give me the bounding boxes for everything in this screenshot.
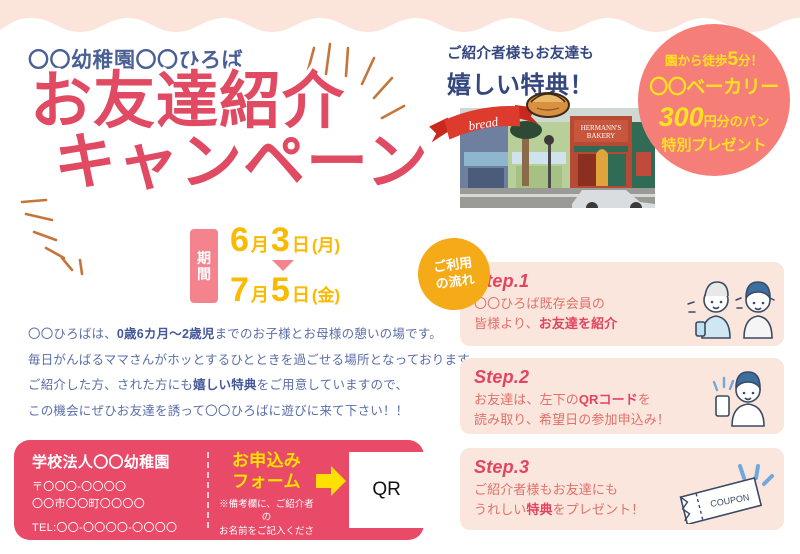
end-month: 7 <box>230 272 249 309</box>
organization-address: 〒〇〇〇-〇〇〇〇 〇〇市〇〇町〇〇〇〇 <box>32 479 207 512</box>
campaign-title: お友達紹介 キャンペーン <box>14 70 429 194</box>
application-form-label: お申込み フォーム <box>217 450 315 493</box>
bakery-offer-badge: 園から徒歩5分！ 〇〇ベーカリー 300円分のパン 特別プレゼント <box>638 24 790 176</box>
end-month-unit: 月 <box>251 281 269 307</box>
arrow-right-icon <box>316 422 348 540</box>
bakery-walk-distance: 園から徒歩5分！ <box>665 49 763 71</box>
period-label-char2: 間 <box>197 266 211 282</box>
start-month: 6 <box>230 222 249 259</box>
period-arrow-icon <box>272 260 294 271</box>
body-copy: 〇〇ひろばは、0歳6カ月〜2歳児までのお子様とお母様の憩いの場です。 毎日がんば… <box>28 322 481 425</box>
telephone: TEL:〇〇-〇〇〇〇-〇〇〇〇 <box>32 519 207 535</box>
campaign-title-line2: キャンペーン <box>54 131 429 194</box>
period-end-date: 7 月 5 日 (金) <box>230 272 340 309</box>
bread-ribbon-icon: bread <box>428 104 540 152</box>
street-address: 〇〇市〇〇町〇〇〇〇 <box>32 496 207 513</box>
start-day-unit: 日 <box>292 231 310 257</box>
start-dow: (月) <box>312 231 340 256</box>
bakery-name: 〇〇ベーカリー <box>649 72 779 99</box>
postal-code: 〒〇〇〇-〇〇〇〇 <box>32 479 207 496</box>
two-women-icon <box>684 278 776 340</box>
contact-application-card: 学校法人〇〇幼稚園 〒〇〇〇-〇〇〇〇 〇〇市〇〇町〇〇〇〇 TEL:〇〇-〇〇… <box>14 440 424 540</box>
bakery-offer-amount: 300円分のパン <box>659 102 770 133</box>
step-card-2: Step.2 お友達は、左下のQRコードを 読み取り、希望日の参加申込み！ <box>460 358 784 434</box>
end-day: 5 <box>271 272 290 309</box>
promo-headline-line1: ご紹介者様もお友達も <box>447 42 594 63</box>
end-dow: (金) <box>312 281 340 306</box>
application-note: ※備考欄に、ご紹介者の お名前をご記入ください！ <box>217 498 315 553</box>
organization-name: 学校法人〇〇幼稚園 <box>32 451 207 472</box>
period-start-date: 6 月 3 日 (月) <box>230 222 340 259</box>
body-copy-line-4: この機会にぜひお友達を誘って〇〇ひろばに遊びに来て下さい！！ <box>28 399 481 425</box>
coupon-icon: COUPON <box>672 464 776 524</box>
woman-phone-icon <box>702 370 776 428</box>
campaign-period: 期 間 6 月 3 日 (月) 7 月 5 日 (金) <box>190 222 340 310</box>
bread-roll-icon <box>525 86 571 120</box>
bakery-sign-line1: HERMANN'S <box>581 124 622 132</box>
period-label-badge: 期 間 <box>190 229 218 303</box>
period-label-char1: 期 <box>197 250 211 266</box>
body-copy-line-3: ご紹介した方、された方にも嬉しい特典をご用意していますので、 <box>28 373 481 399</box>
campaign-title-line1: お友達紹介 <box>30 70 429 133</box>
body-copy-line-1: 〇〇ひろばは、0歳6カ月〜2歳児までのお子様とお母様の憩いの場です。 <box>28 322 481 348</box>
promo-headline: ご紹介者様もお友達も 嬉しい特典！ <box>447 42 594 100</box>
bakery-sign-line2: BAKERY <box>587 132 615 140</box>
start-day: 3 <box>271 222 290 259</box>
end-day-unit: 日 <box>292 281 310 307</box>
body-copy-line-2: 毎日がんばるママさんがホッとするひとときを過ごせる場所となっております。 <box>28 348 481 374</box>
start-month-unit: 月 <box>251 231 269 257</box>
step-card-1: Step.1 〇〇ひろば既存会員の 皆様より、お友達を紹介 <box>460 262 784 346</box>
contact-info: 学校法人〇〇幼稚園 〒〇〇〇-〇〇〇〇 〇〇市〇〇町〇〇〇〇 TEL:〇〇-〇〇… <box>14 440 207 540</box>
bakery-offer-present: 特別プレゼント <box>661 134 766 155</box>
promo-headline-line2: 嬉しい特典！ <box>447 65 594 100</box>
step-card-3: Step.3 ご紹介者様もお友達にも うれしい特典をプレゼント！ COUPON <box>460 448 784 530</box>
application-form-block: お申込み フォーム ※備考欄に、ご紹介者の お名前をご記入ください！ <box>209 440 315 540</box>
qr-code-box[interactable]: QR <box>349 452 424 528</box>
